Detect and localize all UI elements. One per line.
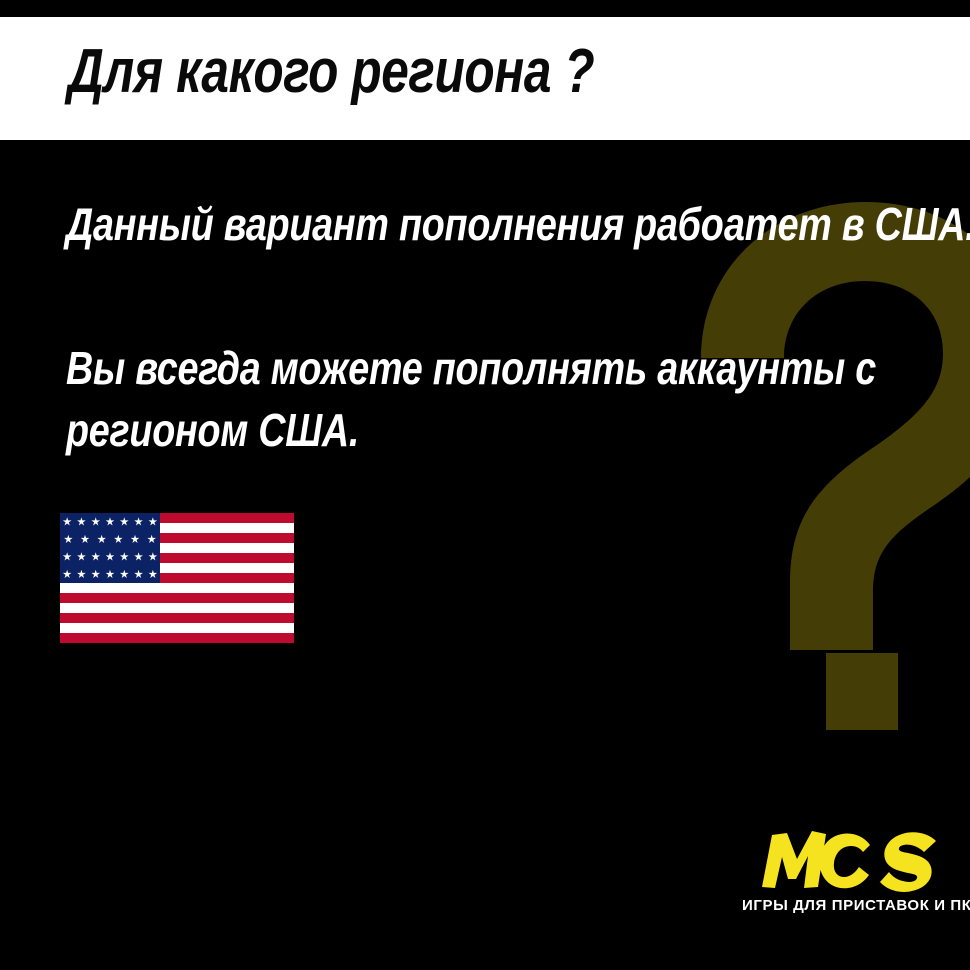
- mcs-wordmark-icon: [742, 825, 957, 897]
- paragraph-topup-note: Вы всегда можете пополнять аккаунты с ре…: [66, 337, 902, 461]
- page-title: Для какого региона ?: [68, 39, 594, 104]
- promo-slide: Для какого региона ? Данный вариант попо…: [0, 0, 970, 970]
- header-band: Для какого региона ?: [0, 17, 970, 140]
- flag-stripe: [60, 633, 294, 643]
- paragraph-region-availability: Данный вариант пополнения рабоатет в США…: [66, 193, 970, 255]
- content-area: Данный вариант пополнения рабоатет в США…: [0, 140, 970, 970]
- flag-stripe: [60, 593, 294, 603]
- top-black-strip: [0, 0, 970, 17]
- mcs-logo-tagline: ИГРЫ ДЛЯ ПРИСТАВОК И ПК: [742, 897, 957, 914]
- mcs-logo: ИГРЫ ДЛЯ ПРИСТАВОК И ПК: [742, 825, 957, 930]
- flag-stripe: [60, 613, 294, 623]
- united-states-flag-icon: [60, 513, 294, 643]
